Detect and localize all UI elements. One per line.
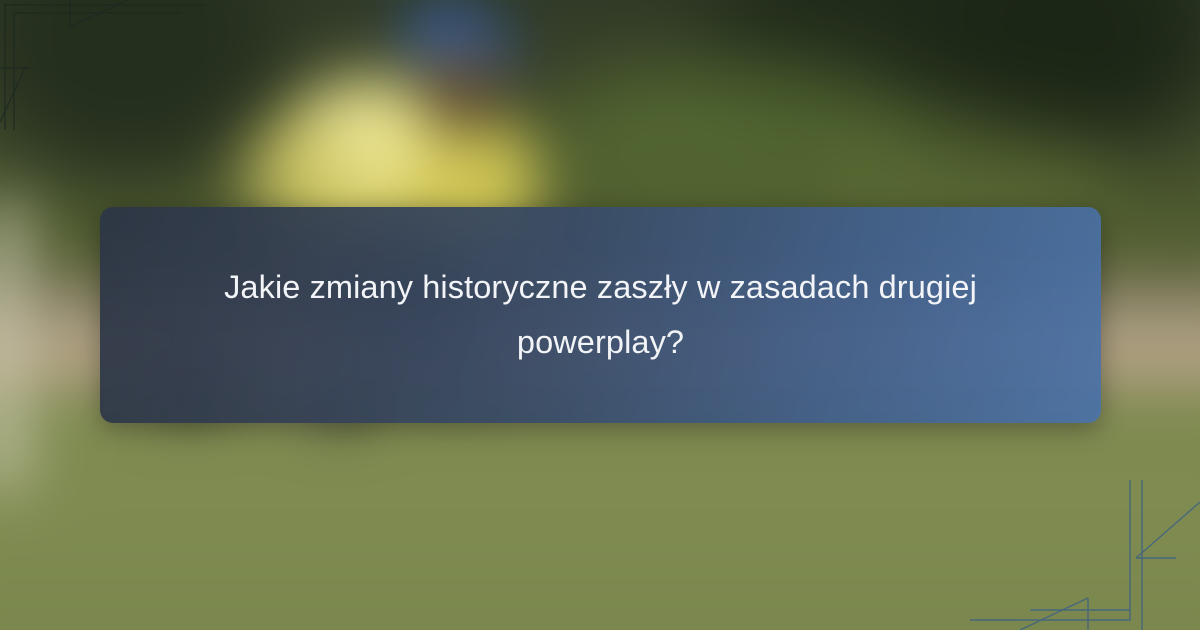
screenshot-canvas: Jakie zmiany historyczne zaszły w zasada… bbox=[0, 0, 1200, 630]
question-headline: Jakie zmiany historyczne zaszły w zasada… bbox=[221, 260, 981, 369]
background-player-face-shadow bbox=[430, 75, 492, 135]
background-grass-band bbox=[0, 390, 1200, 630]
question-card: Jakie zmiany historyczne zaszły w zasada… bbox=[100, 207, 1101, 423]
background-stump-pole bbox=[0, 200, 26, 490]
